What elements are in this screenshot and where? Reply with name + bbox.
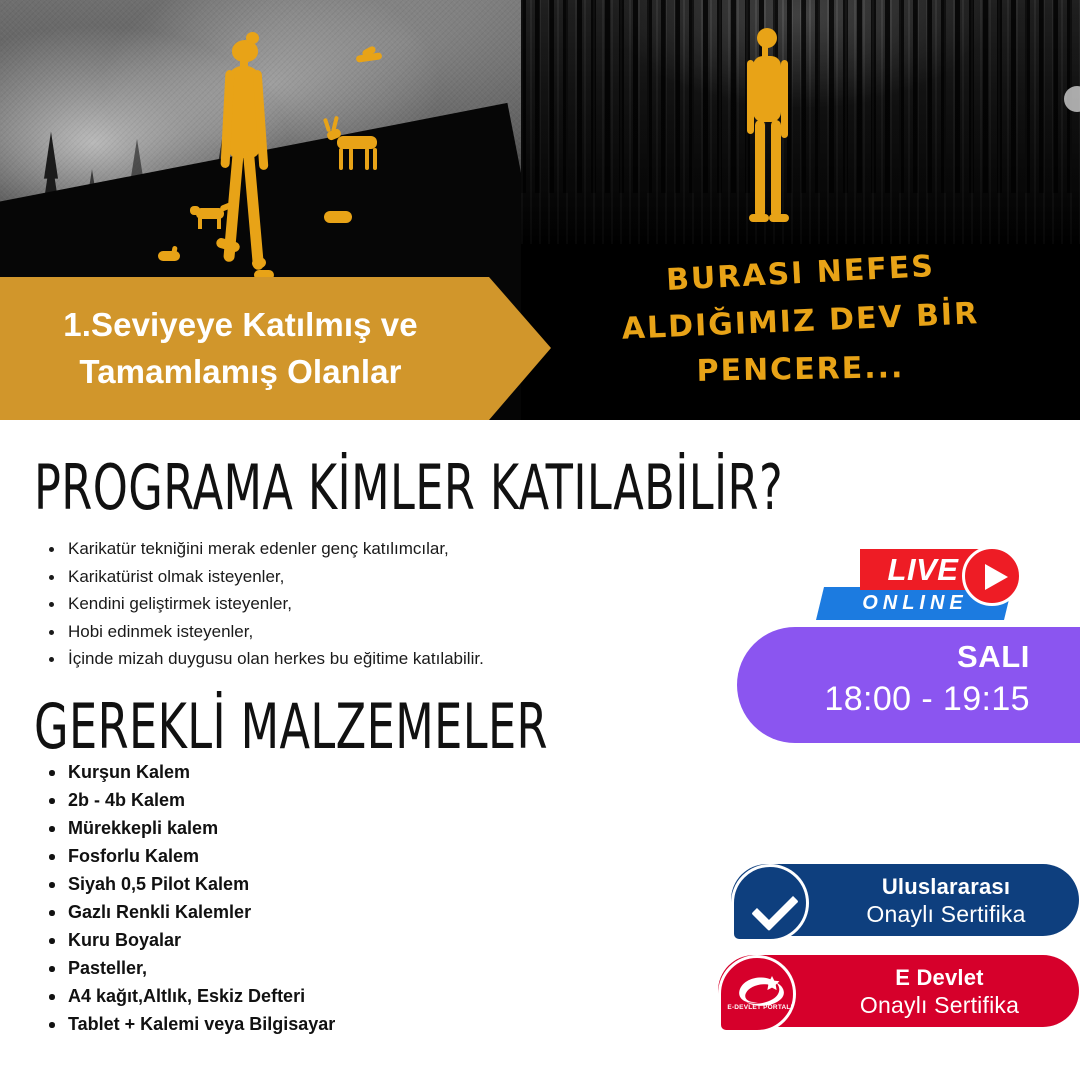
golden-hedgehog-icon: [322, 208, 354, 226]
level-banner: 1.Seviyeye Katılmış ve Tamamlamış Olanla…: [0, 277, 551, 420]
list-item: İçinde mizah duygusu olan herkes bu eğit…: [40, 645, 700, 673]
certificate-title: Uluslararası: [827, 873, 1065, 900]
golden-bird-icon: [352, 48, 386, 66]
list-item: Pasteller,: [40, 954, 600, 982]
list-item: 2b - 4b Kalem: [40, 786, 600, 814]
certificate-title: E Devlet: [814, 964, 1065, 991]
level-banner-line1: 1.Seviyeye Katılmış ve: [63, 302, 417, 349]
live-online-badge: ONLINE LIVE: [816, 549, 1032, 625]
list-item: Karikatür tekniğini merak edenler genç k…: [40, 535, 700, 563]
poster-root: BURASI NEFES ALDIĞIMIZ DEV BİR PENCERE..…: [0, 0, 1080, 1080]
list-item: Mürekkepli kalem: [40, 814, 600, 842]
list-item: Kurşun Kalem: [40, 758, 600, 786]
golden-standing-figure: [743, 28, 799, 228]
participants-heading: PROGRAMA KİMLER KATILABİLİR?: [34, 451, 783, 524]
speech-bubble-icon: E-DEVLET PORTALI: [718, 955, 796, 1033]
list-item: Hobi edinmek isteyenler,: [40, 618, 700, 646]
schedule-box: SALI 18:00 - 19:15: [737, 627, 1080, 743]
certificate-subtitle: Onaylı Sertifika: [827, 900, 1065, 928]
e-devlet-logo-caption: E-DEVLET PORTALI: [725, 1004, 795, 1011]
list-item: A4 kağıt,Altlık, Eskiz Defteri: [40, 982, 600, 1010]
schedule-day: SALI: [737, 638, 1030, 676]
golden-fox-icon: [190, 204, 232, 230]
golden-figure-hairbun: [246, 32, 259, 44]
golden-deer-icon: [325, 118, 391, 170]
list-item: Kuru Boyalar: [40, 926, 600, 954]
participants-list: Karikatür tekniğini merak edenler genç k…: [40, 535, 700, 673]
certificate-text-international: Uluslararası Onaylı Sertifika: [827, 873, 1065, 928]
speech-bubble-icon: [731, 864, 809, 942]
materials-heading: GEREKLİ MALZEMELER: [34, 690, 548, 763]
play-triangle-icon: [985, 564, 1008, 590]
schedule-time: 18:00 - 19:15: [737, 676, 1030, 722]
list-item: Karikatürist olmak isteyenler,: [40, 563, 700, 591]
certificate-subtitle: Onaylı Sertifika: [814, 991, 1065, 1019]
checkmark-icon: [751, 884, 798, 931]
certificate-text-edevlet: E Devlet Onaylı Sertifika: [814, 964, 1065, 1019]
e-devlet-logo-icon: [731, 968, 789, 1026]
certificate-badge-international: Uluslararası Onaylı Sertifika: [731, 864, 1079, 936]
list-item: Kendini geliştirmek isteyenler,: [40, 590, 700, 618]
list-item: Tablet + Kalemi veya Bilgisayar: [40, 1010, 600, 1038]
level-banner-line2: Tamamlamış Olanlar: [79, 349, 401, 396]
list-item: Siyah 0,5 Pilot Kalem: [40, 870, 600, 898]
list-item: Fosforlu Kalem: [40, 842, 600, 870]
certificate-badge-edevlet: E-DEVLET PORTALI E Devlet Onaylı Sertifi…: [718, 955, 1079, 1027]
golden-rabbit-icon: [156, 246, 184, 264]
materials-list: Kurşun Kalem 2b - 4b Kalem Mürekkepli ka…: [40, 758, 600, 1038]
list-item: Gazlı Renkli Kalemler: [40, 898, 600, 926]
artwork-right: BURASI NEFES ALDIĞIMIZ DEV BİR PENCERE..…: [521, 0, 1080, 420]
